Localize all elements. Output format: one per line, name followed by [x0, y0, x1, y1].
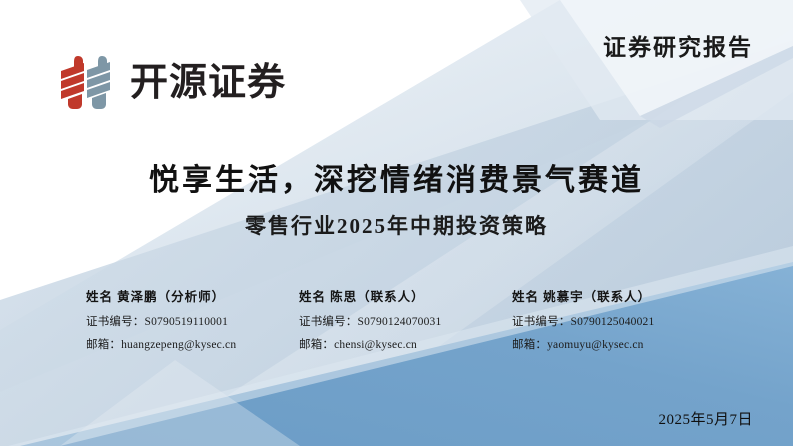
author-cert: 证书编号：S0790124070031: [299, 313, 512, 329]
report-cover-slide: 证券研究报告 开源证券 悦享生活，深挖情绪消费景气赛道 零售行业2025: [0, 0, 793, 446]
author-name: 姓名 姚慕宇（联系人）: [512, 286, 725, 305]
author-name: 姓名 黄泽鹏（分析师）: [86, 286, 299, 305]
report-type-label: 证券研究报告: [603, 28, 753, 62]
author-cert: 证书编号：S0790125040021: [512, 313, 725, 329]
brand-wordmark: 开源证券: [130, 64, 286, 102]
author-email: 邮箱：chensi@kysec.cn: [299, 336, 512, 352]
author-cert: 证书编号：S0790519110001: [86, 313, 299, 329]
author-list: 姓名 黄泽鹏（分析师） 证书编号：S0790519110001 邮箱：huang…: [86, 286, 726, 359]
author-email: 邮箱：huangzepeng@kysec.cn: [86, 336, 299, 352]
page-title: 悦享生活，深挖情绪消费景气赛道: [0, 155, 793, 199]
author-block-2: 姓名 陈思（联系人） 证书编号：S0790124070031 邮箱：chensi…: [299, 286, 512, 359]
publish-date: 2025年5月7日: [658, 408, 753, 429]
author-block-1: 姓名 黄泽鹏（分析师） 证书编号：S0790519110001 邮箱：huang…: [86, 286, 299, 359]
author-email: 邮箱：yaomuyu@kysec.cn: [512, 336, 725, 352]
page-subtitle: 零售行业2025年中期投资策略: [0, 210, 793, 240]
author-block-3: 姓名 姚慕宇（联系人） 证书编号：S0790125040021 邮箱：yaomu…: [512, 286, 725, 359]
kaiyuan-logo-icon: [56, 54, 120, 112]
brand-logo: 开源证券: [56, 54, 286, 112]
author-name: 姓名 陈思（联系人）: [299, 286, 512, 305]
